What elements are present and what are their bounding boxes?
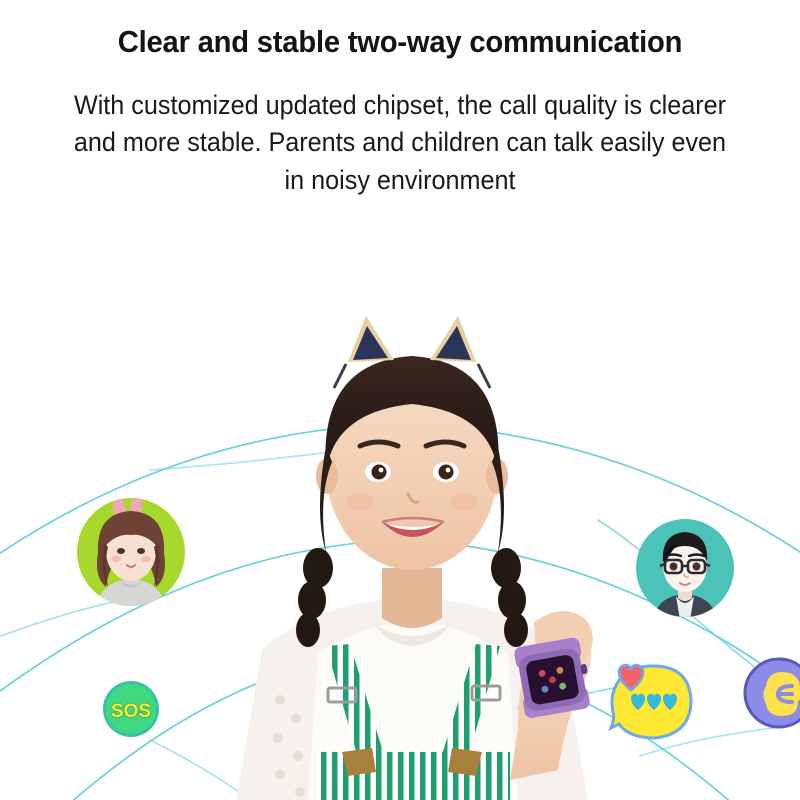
text-block: Clear and stable two-way communication W… (0, 0, 800, 199)
avatar-dad-icon[interactable] (633, 516, 737, 620)
sos-icon[interactable]: SOS (101, 679, 161, 739)
product-feature-page: Clear and stable two-way communication W… (0, 0, 800, 800)
chat-bubble-icon[interactable] (601, 658, 697, 750)
page-title: Clear and stable two-way communication (24, 24, 776, 61)
voice-message-icon[interactable] (742, 656, 800, 730)
sos-label: SOS (111, 701, 151, 722)
page-subtitle: With customized updated chipset, the cal… (20, 87, 780, 200)
child-photo (222, 300, 602, 800)
avatar-mom-icon[interactable] (74, 495, 188, 609)
